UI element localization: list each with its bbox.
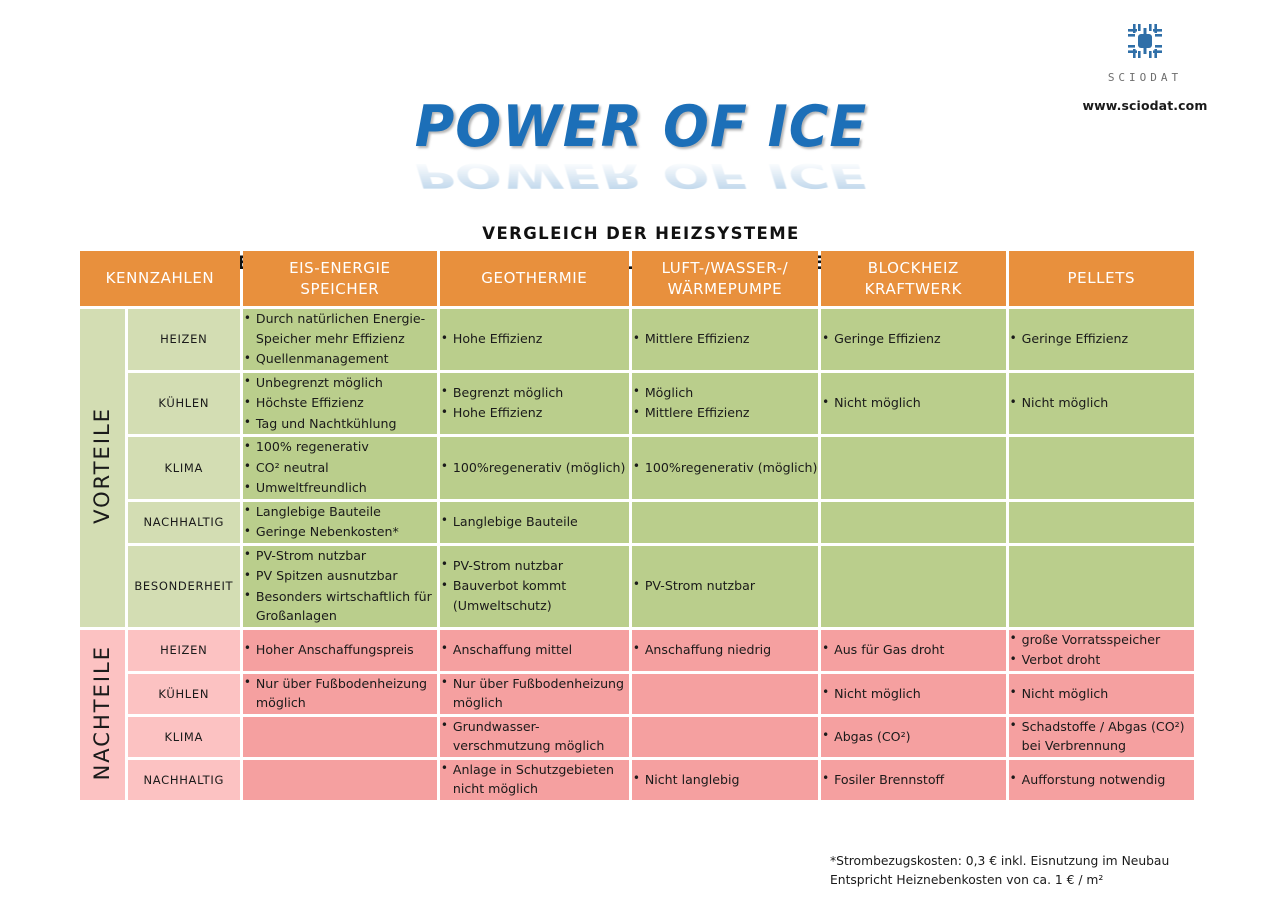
cell-nachteile-2-bhkw: Abgas (CO²) [821, 717, 1006, 757]
table-row: KÜHLENUnbegrenzt möglichHöchste Effizien… [80, 373, 1194, 435]
section-label-nachteile: NACHTEILE [80, 630, 125, 800]
list-item: Anschaffung mittel [440, 640, 629, 660]
page-subtitle: VERGLEICH DER HEIZSYSTEME [0, 224, 1282, 243]
list-item: große Vorratsspeicher [1009, 630, 1194, 650]
list-item: Besonders wirtschaftlich für Großanlagen [243, 587, 437, 626]
row-label-nachteile-2: KLIMA [128, 717, 240, 757]
list-item: Hohe Effizienz [440, 329, 629, 349]
list-item: Begrenzt möglich [440, 383, 629, 403]
list-item: PV-Strom nutzbar [440, 556, 629, 576]
cell-vorteile-1-geo: Begrenzt möglichHohe Effizienz [440, 373, 629, 435]
row-label-nachteile-3: NACHHALTIG [128, 760, 240, 800]
cell-vorteile-0-pellets: Geringe Effizienz [1009, 309, 1194, 370]
list-item: Nicht möglich [1009, 684, 1194, 704]
list-item: Nicht langlebig [632, 770, 818, 790]
cell-nachteile-0-geo: Anschaffung mittel [440, 630, 629, 671]
list-item: Langlebige Bauteile [440, 512, 629, 532]
cell-vorteile-3-bhkw [821, 502, 1006, 543]
list-item: Abgas (CO²) [821, 727, 1006, 747]
column-header-eis: EIS-ENERGIESPEICHER [243, 251, 437, 306]
cell-nachteile-0-lwwp: Anschaffung niedrig [632, 630, 818, 671]
cell-nachteile-3-pellets: Aufforstung notwendig [1009, 760, 1194, 800]
row-label-vorteile-0: HEIZEN [128, 309, 240, 370]
row-label-vorteile-1: KÜHLEN [128, 373, 240, 435]
list-item: PV Spitzen ausnutzbar [243, 566, 437, 586]
cell-nachteile-0-pellets: große VorratsspeicherVerbot droht [1009, 630, 1194, 671]
column-header-pellets: PELLETS [1009, 251, 1194, 306]
list-item: Mittlere Effizienz [632, 403, 818, 423]
cell-vorteile-4-geo: PV-Strom nutzbarBauverbot kommt (Umwelts… [440, 546, 629, 627]
cell-vorteile-2-eis: 100% regenerativCO² neutralUmweltfreundl… [243, 437, 437, 499]
row-label-nachteile-1: KÜHLEN [128, 674, 240, 714]
cell-vorteile-3-geo: Langlebige Bauteile [440, 502, 629, 543]
page-title: POWER OF ICE [415, 99, 868, 156]
table-header-row: KENNZAHLENEIS-ENERGIESPEICHERGEOTHERMIEL… [80, 251, 1194, 306]
brand-logo-block: SCIODAT www.sciodat.com [1060, 18, 1230, 113]
title-group: POWER OF ICE POWER OF ICE [0, 100, 1282, 202]
table-row: KLIMA100% regenerativCO² neutralUmweltfr… [80, 437, 1194, 499]
row-label-vorteile-3: NACHHALTIG [128, 502, 240, 543]
list-item: Aufforstung notwendig [1009, 770, 1194, 790]
table-row: NACHTEILEHEIZENHoher AnschaffungspreisAn… [80, 630, 1194, 671]
list-item: Verbot droht [1009, 650, 1194, 670]
column-header-bhkw: BLOCKHEIZKRAFTWERK [821, 251, 1006, 306]
cell-nachteile-3-bhkw: Fosiler Brennstoff [821, 760, 1006, 800]
page-title-reflection: POWER OF ICE [0, 158, 1282, 191]
footnote: *Strombezugskosten: 0,3 € inkl. Eisnutzu… [830, 852, 1230, 890]
brand-name: SCIODAT [1060, 71, 1230, 84]
cell-vorteile-3-pellets [1009, 502, 1194, 543]
list-item: Schadstoffe / Abgas (CO²) bei Verbrennun… [1009, 717, 1194, 756]
column-header-geo: GEOTHERMIE [440, 251, 629, 306]
cell-vorteile-1-lwwp: MöglichMittlere Effizienz [632, 373, 818, 435]
list-item: PV-Strom nutzbar [632, 576, 818, 596]
cell-vorteile-2-pellets [1009, 437, 1194, 499]
table-row: KLIMAGrundwasser- verschmutzung möglichA… [80, 717, 1194, 757]
list-item: Mittlere Effizienz [632, 329, 818, 349]
list-item: Anschaffung niedrig [632, 640, 818, 660]
row-label-nachteile-0: HEIZEN [128, 630, 240, 671]
list-item: Nur über Fußbodenheizung möglich [243, 674, 437, 713]
list-item: Tag und Nachtkühlung [243, 414, 437, 434]
row-label-vorteile-4: BESONDERHEIT [128, 546, 240, 627]
list-item: Grundwasser- verschmutzung möglich [440, 717, 629, 756]
footnote-line-2: Entspricht Heiznebenkosten von ca. 1 € /… [830, 871, 1230, 890]
row-label-vorteile-2: KLIMA [128, 437, 240, 499]
list-item: CO² neutral [243, 458, 437, 478]
cell-nachteile-2-eis [243, 717, 437, 757]
cell-vorteile-2-lwwp: 100%regenerativ (möglich) [632, 437, 818, 499]
list-item: Umweltfreundlich [243, 478, 437, 498]
table-row: KÜHLENNur über Fußbodenheizung möglichNu… [80, 674, 1194, 714]
list-item: Bauverbot kommt (Umweltschutz) [440, 576, 629, 615]
sciodat-chip-spider-logo-icon [1060, 18, 1230, 68]
cell-vorteile-0-lwwp: Mittlere Effizienz [632, 309, 818, 370]
list-item: Fosiler Brennstoff [821, 770, 1006, 790]
list-item: Nicht möglich [821, 393, 1006, 413]
cell-nachteile-1-geo: Nur über Fußbodenheizung möglich [440, 674, 629, 714]
cell-vorteile-3-eis: Langlebige BauteileGeringe Nebenkosten* [243, 502, 437, 543]
list-item: Langlebige Bauteile [243, 502, 437, 522]
column-header-kennzahlen: KENNZAHLEN [80, 251, 240, 306]
list-item: Geringe Effizienz [821, 329, 1006, 349]
cell-vorteile-4-bhkw [821, 546, 1006, 627]
cell-vorteile-0-eis: Durch natürlichen Energie-Speicher mehr … [243, 309, 437, 370]
cell-vorteile-4-lwwp: PV-Strom nutzbar [632, 546, 818, 627]
section-label-vorteile: VORTEILE [80, 309, 125, 627]
list-item: Möglich [632, 383, 818, 403]
cell-nachteile-0-eis: Hoher Anschaffungspreis [243, 630, 437, 671]
table-row: NACHHALTIGLanglebige BauteileGeringe Neb… [80, 502, 1194, 543]
cell-vorteile-1-pellets: Nicht möglich [1009, 373, 1194, 435]
cell-nachteile-0-bhkw: Aus für Gas droht [821, 630, 1006, 671]
list-item: Nur über Fußbodenheizung möglich [440, 674, 629, 713]
list-item: Aus für Gas droht [821, 640, 1006, 660]
list-item: Durch natürlichen Energie-Speicher mehr … [243, 309, 437, 348]
list-item: PV-Strom nutzbar [243, 546, 437, 566]
list-item: 100% regenerativ [243, 437, 437, 457]
cell-nachteile-2-geo: Grundwasser- verschmutzung möglich [440, 717, 629, 757]
cell-nachteile-1-lwwp [632, 674, 818, 714]
table-row: NACHHALTIGAnlage in Schutzgebieten nicht… [80, 760, 1194, 800]
comparison-table: KENNZAHLENEIS-ENERGIESPEICHERGEOTHERMIEL… [77, 248, 1197, 803]
list-item: Höchste Effizienz [243, 393, 437, 413]
list-item: Geringe Effizienz [1009, 329, 1194, 349]
list-item: Hohe Effizienz [440, 403, 629, 423]
cell-vorteile-4-pellets [1009, 546, 1194, 627]
table-row: VORTEILEHEIZENDurch natürlichen Energie-… [80, 309, 1194, 370]
cell-vorteile-2-geo: 100%regenerativ (möglich) [440, 437, 629, 499]
cell-vorteile-0-geo: Hohe Effizienz [440, 309, 629, 370]
cell-nachteile-3-lwwp: Nicht langlebig [632, 760, 818, 800]
list-item: Unbegrenzt möglich [243, 373, 437, 393]
list-item: Geringe Nebenkosten* [243, 522, 437, 542]
list-item: Quellenmanagement [243, 349, 437, 369]
cell-vorteile-0-bhkw: Geringe Effizienz [821, 309, 1006, 370]
list-item: Nicht möglich [1009, 393, 1194, 413]
cell-vorteile-4-eis: PV-Strom nutzbarPV Spitzen ausnutzbarBes… [243, 546, 437, 627]
cell-vorteile-3-lwwp [632, 502, 818, 543]
cell-nachteile-1-eis: Nur über Fußbodenheizung möglich [243, 674, 437, 714]
list-item: 100%regenerativ (möglich) [440, 458, 629, 478]
list-item: Nicht möglich [821, 684, 1006, 704]
footnote-line-1: *Strombezugskosten: 0,3 € inkl. Eisnutzu… [830, 852, 1230, 871]
cell-vorteile-1-eis: Unbegrenzt möglichHöchste EffizienzTag u… [243, 373, 437, 435]
cell-nachteile-2-lwwp [632, 717, 818, 757]
list-item: Anlage in Schutzgebieten nicht möglich [440, 760, 629, 799]
list-item: 100%regenerativ (möglich) [632, 458, 818, 478]
cell-nachteile-3-geo: Anlage in Schutzgebieten nicht möglich [440, 760, 629, 800]
cell-vorteile-1-bhkw: Nicht möglich [821, 373, 1006, 435]
table-row: BESONDERHEITPV-Strom nutzbarPV Spitzen a… [80, 546, 1194, 627]
list-item: Hoher Anschaffungspreis [243, 640, 437, 660]
cell-vorteile-2-bhkw [821, 437, 1006, 499]
cell-nachteile-2-pellets: Schadstoffe / Abgas (CO²) bei Verbrennun… [1009, 717, 1194, 757]
cell-nachteile-1-bhkw: Nicht möglich [821, 674, 1006, 714]
cell-nachteile-1-pellets: Nicht möglich [1009, 674, 1194, 714]
column-header-lwwp: LUFT-/WASSER-/WÄRMEPUMPE [632, 251, 818, 306]
cell-nachteile-3-eis [243, 760, 437, 800]
